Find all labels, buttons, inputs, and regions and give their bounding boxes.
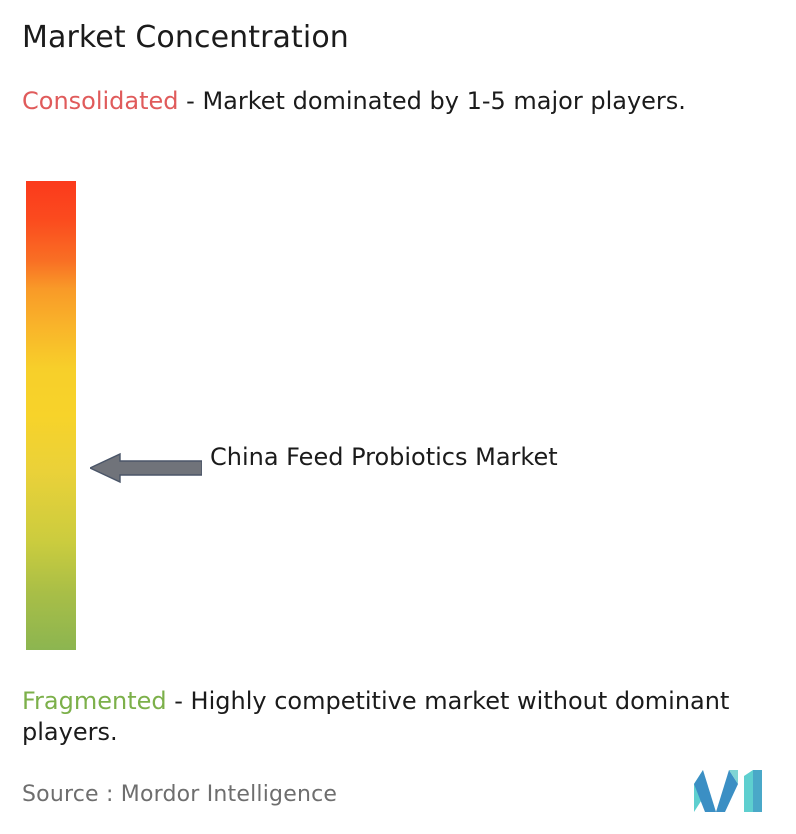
legend-fragmented-key: Fragmented (22, 687, 167, 715)
page-title: Market Concentration (22, 20, 762, 55)
market-concentration-infographic: Market Concentration Consolidated - Mark… (0, 0, 796, 834)
legend-consolidated-description: - Market dominated by 1-5 major players. (179, 87, 686, 115)
concentration-gradient-bar (26, 181, 76, 650)
source-caption: Source : Mordor Intelligence (22, 782, 337, 807)
mordor-intelligence-logo (694, 768, 764, 814)
legend-consolidated-key: Consolidated (22, 87, 179, 115)
callout-market-label: China Feed Probiotics Market (210, 440, 570, 474)
legend-fragmented: Fragmented - Highly competitive market w… (22, 686, 784, 748)
legend-consolidated: Consolidated - Market dominated by 1-5 m… (22, 86, 784, 117)
arrow-left-icon (90, 452, 202, 484)
